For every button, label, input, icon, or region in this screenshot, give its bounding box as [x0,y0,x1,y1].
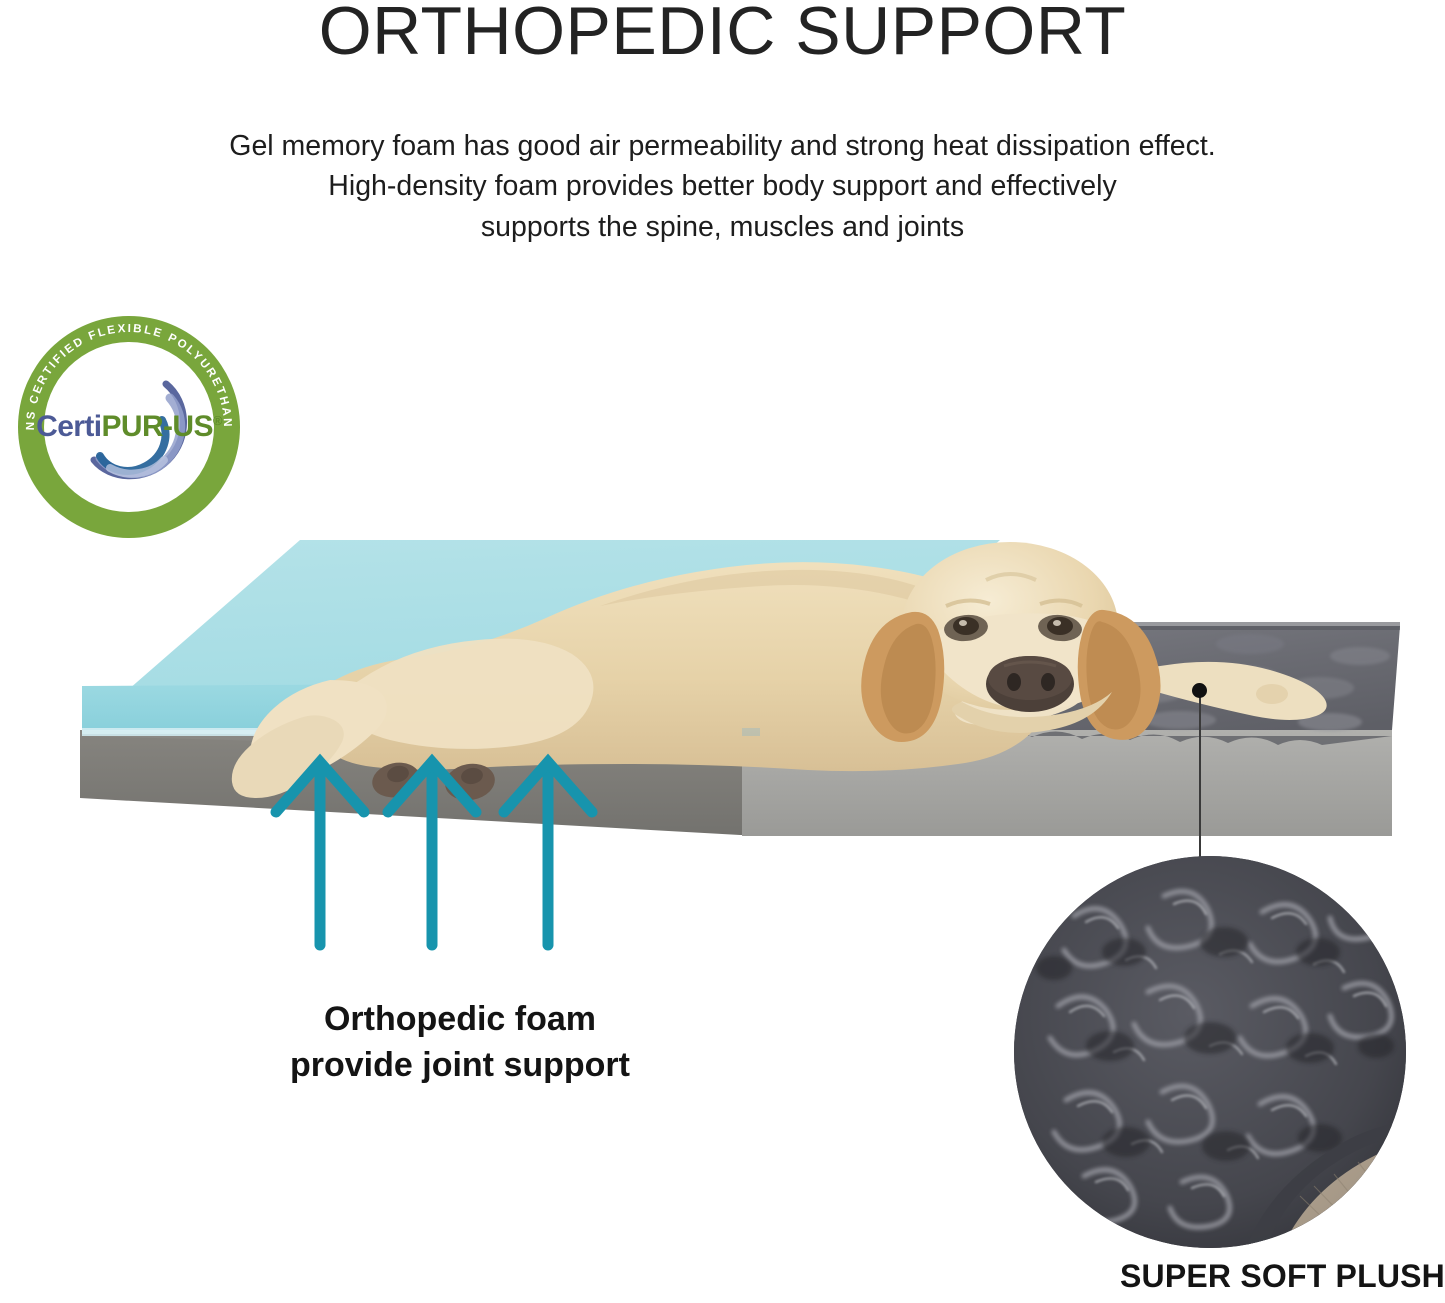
orthopedic-foam-label-line-2: provide joint support [150,1042,770,1088]
badge-brand-certi: Certi [36,410,101,443]
description-line-3: supports the spine, muscles and joints [0,207,1445,247]
arrow-up-3 [504,762,592,945]
arrow-up-2 [388,762,476,945]
plush-fabric-closeup [1014,856,1406,1248]
page-title: ORTHOPEDIC SUPPORT [0,0,1445,67]
callout-leader-line [1199,690,1201,866]
plush-fabric-texture [1014,856,1406,1248]
callout-anchor-dot [1192,683,1207,698]
support-direction-arrows [0,740,700,970]
description-line-2: High-density foam provides better body s… [0,166,1445,206]
orthopedic-foam-label-line-1: Orthopedic foam [150,996,770,1042]
orthopedic-foam-label: Orthopedic foam provide joint support [150,996,770,1088]
description-paragraph: Gel memory foam has good air permeabilit… [0,126,1445,247]
badge-brand-wordmark: CertiPUR-US® [18,410,240,444]
arrow-up-1 [276,762,364,945]
badge-brand-purus: PUR-US [101,410,212,443]
description-line-1: Gel memory foam has good air permeabilit… [0,126,1445,166]
super-soft-plush-label: SUPER SOFT PLUSH [945,1258,1445,1295]
registered-trademark-icon: ® [213,413,222,428]
infographic-canvas: ORTHOPEDIC SUPPORT Gel memory foam has g… [0,0,1445,1303]
